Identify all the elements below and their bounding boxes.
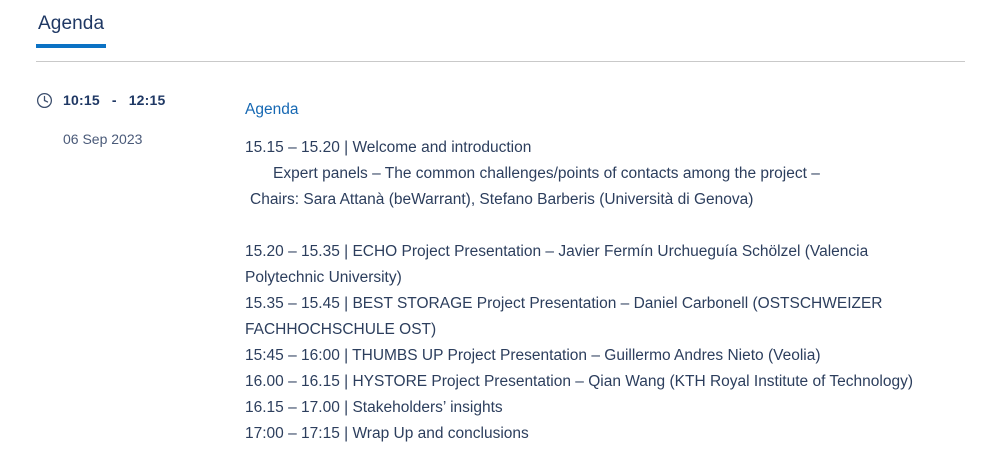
agenda-line: 15.15 – 15.20 | Welcome and introduction — [245, 135, 935, 161]
time-start: 10:15 — [63, 92, 100, 108]
agenda-line: Chairs: Sara Attanà (beWarrant), Stefano… — [245, 187, 935, 213]
tab-bar: Agenda — [36, 12, 106, 48]
agenda-block: 15.20 – 15.35 | ECHO Project Presentatio… — [245, 239, 935, 447]
agenda-block: 15.15 – 15.20 | Welcome and introduction… — [245, 135, 935, 213]
session-date: 06 Sep 2023 — [63, 131, 245, 147]
session-content: Agenda 15.15 – 15.20 | Welcome and intro… — [245, 90, 996, 447]
session-row: 10:15 - 12:15 06 Sep 2023 Agenda 15.15 –… — [0, 90, 996, 447]
time-end: 12:15 — [129, 92, 166, 108]
time-separator: - — [110, 92, 119, 108]
agenda-line: 15:45 – 16:00 | THUMBS UP Project Presen… — [245, 343, 935, 369]
header-divider — [36, 61, 965, 62]
agenda-line: 15.35 – 15.45 | BEST STORAGE Project Pre… — [245, 291, 935, 343]
agenda-line: Expert panels – The common challenges/po… — [245, 161, 935, 187]
agenda-line: 15.20 – 15.35 | ECHO Project Presentatio… — [245, 239, 935, 291]
clock-icon — [36, 92, 53, 109]
agenda-line: 17:00 – 17:15 | Wrap Up and conclusions — [245, 421, 935, 447]
session-meta: 10:15 - 12:15 06 Sep 2023 — [0, 90, 245, 147]
tab-agenda[interactable]: Agenda — [36, 12, 106, 48]
session-time: 10:15 - 12:15 — [36, 90, 245, 110]
agenda-line: 16.00 – 16.15 | HYSTORE Project Presenta… — [245, 369, 935, 395]
paragraph-spacer — [245, 213, 936, 239]
agenda-line: 16.15 – 17.00 | Stakeholders’ insights — [245, 395, 935, 421]
agenda-link[interactable]: Agenda — [245, 100, 298, 120]
